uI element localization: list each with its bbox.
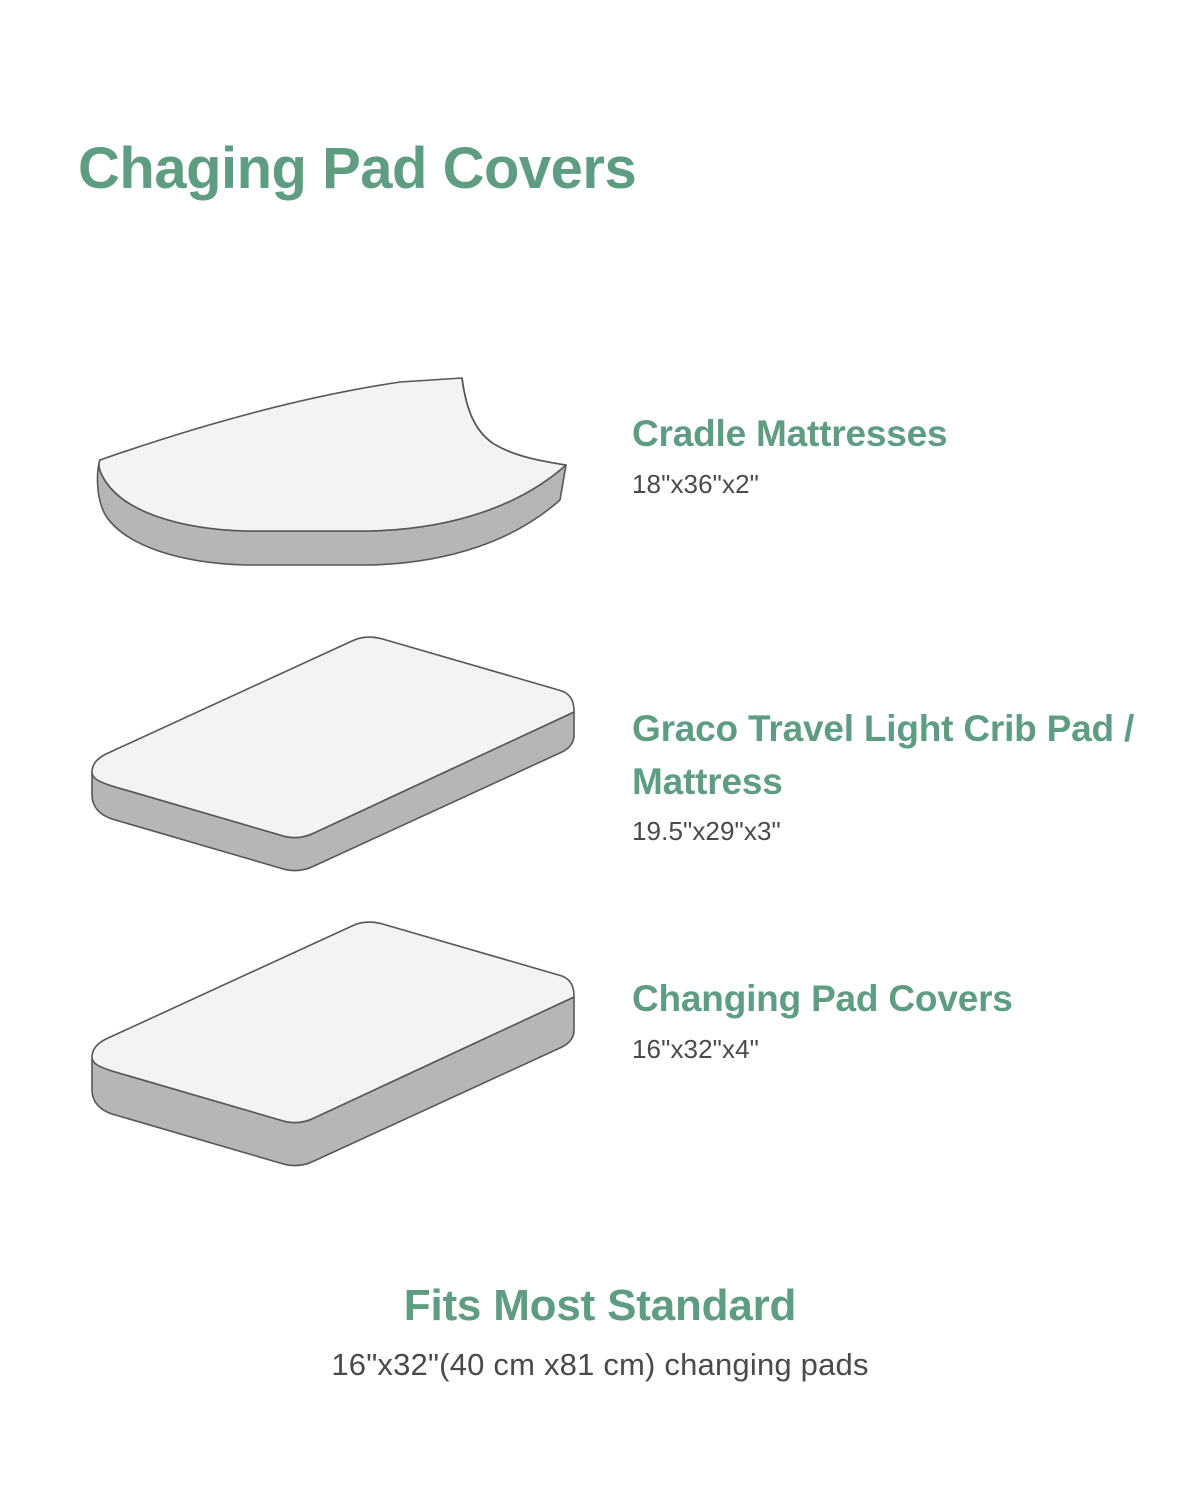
product-text-block: Changing Pad Covers 16"x32"x4": [632, 973, 1162, 1069]
contoured-changing-pad-illustration: [70, 360, 610, 610]
product-name: Graco Travel Light Crib Pad / Mattress: [632, 703, 1162, 808]
product-text-block: Graco Travel Light Crib Pad / Mattress 1…: [632, 703, 1162, 851]
product-text-block: Cradle Mattresses 18"x36"x2": [632, 408, 1162, 504]
infographic-page: Chaging Pad Covers Cradle Mattresses 18"…: [0, 0, 1200, 1500]
flat-mattress-thick-illustration: [70, 935, 610, 1185]
product-row: Cradle Mattresses 18"x36"x2": [0, 360, 1200, 610]
page-title: Chaging Pad Covers: [78, 137, 636, 201]
flat-mattress-thin-illustration: [70, 655, 610, 905]
footer-heading: Fits Most Standard: [0, 1278, 1200, 1333]
product-dimensions: 18"x36"x2": [632, 465, 1162, 504]
footer-subtext: 16"x32"(40 cm x81 cm) changing pads: [0, 1343, 1200, 1386]
product-dimensions: 19.5"x29"x3": [632, 812, 1162, 851]
product-row: Graco Travel Light Crib Pad / Mattress 1…: [0, 655, 1200, 905]
product-name: Changing Pad Covers: [632, 973, 1162, 1026]
footer-block: Fits Most Standard 16"x32"(40 cm x81 cm)…: [0, 1278, 1200, 1386]
product-dimensions: 16"x32"x4": [632, 1030, 1162, 1069]
product-row: Changing Pad Covers 16"x32"x4": [0, 935, 1200, 1185]
product-name: Cradle Mattresses: [632, 408, 1162, 461]
